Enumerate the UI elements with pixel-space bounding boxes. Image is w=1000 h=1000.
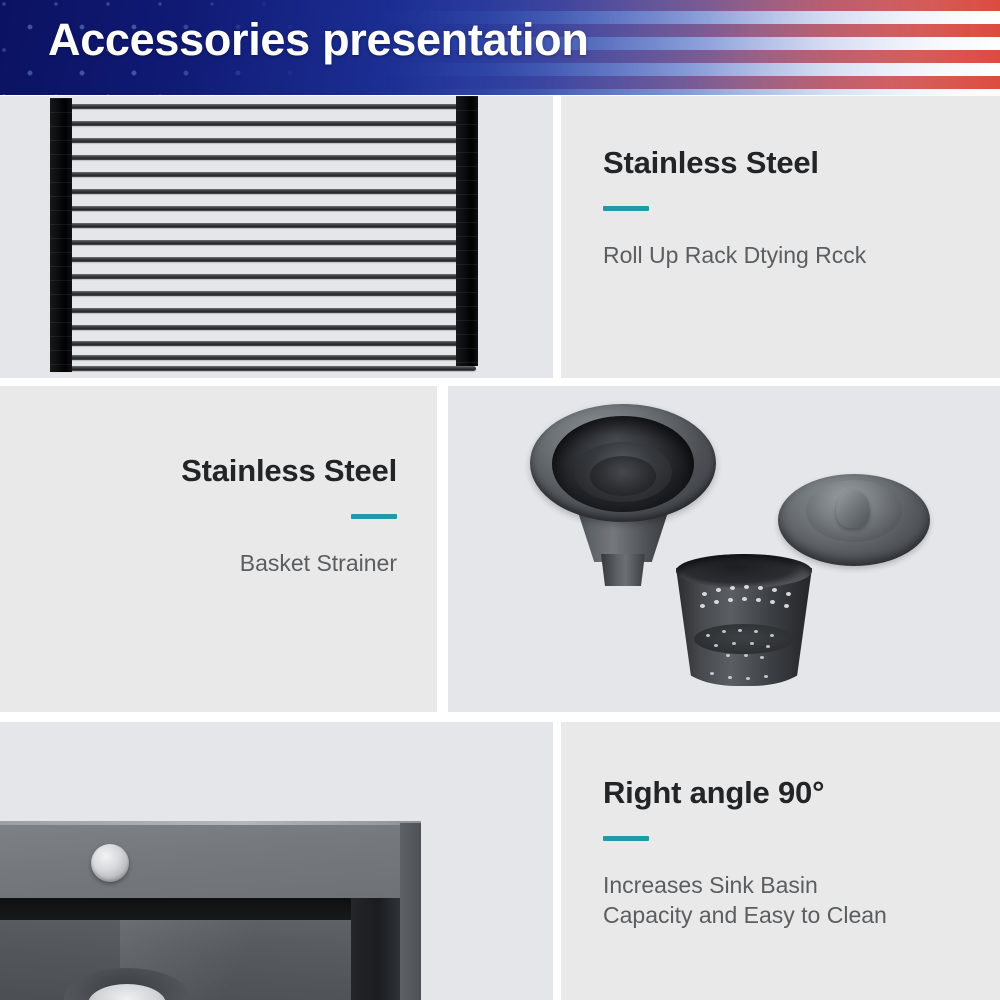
page-title: Accessories presentation [48, 14, 589, 66]
faucet-hole-plug [91, 844, 129, 882]
rack-text-block: Stainless Steel Roll Up Rack Dtying Rcck [603, 146, 866, 271]
perforated-basket [676, 554, 812, 696]
angle-text-block: Right angle 90° Increases Sink Basin Cap… [603, 776, 887, 930]
panel-right-angle-text: Right angle 90° Increases Sink Basin Cap… [561, 722, 1000, 1000]
panel-roll-up-rack-text: Stainless Steel Roll Up Rack Dtying Rcck [561, 96, 1000, 378]
roll-up-dish-drying-rack-photo [0, 96, 553, 378]
basket-subtitle: Basket Strainer [181, 549, 397, 578]
panel-sink-photo [0, 722, 553, 1000]
rack-accent-rule [603, 206, 649, 211]
flag-stripe-white [380, 89, 1000, 95]
basket-heading: Stainless Steel [181, 454, 397, 488]
rack-heading: Stainless Steel [603, 146, 866, 180]
angle-accent-rule [603, 836, 649, 841]
rack-silicone-band-left [50, 98, 72, 372]
basket-text-block: Stainless Steel Basket Strainer [181, 454, 397, 579]
header-banner: Accessories presentation [0, 0, 1000, 95]
accessories-presentation-page: Accessories presentation S [0, 0, 1000, 1000]
flag-stripe-red [380, 76, 1000, 89]
angle-subtitle-line1: Increases Sink Basin [603, 871, 887, 900]
angle-subtitle-line2: Capacity and Easy to Clean [603, 901, 887, 930]
basket-perforations [676, 554, 812, 696]
gunmetal-sink-corner-photo [0, 722, 553, 1000]
angle-heading: Right angle 90° [603, 776, 887, 810]
basket-accent-rule [351, 514, 397, 519]
rack-silicone-band-right [456, 96, 478, 366]
panel-roll-up-rack-photo [0, 96, 553, 378]
panel-basket-strainer-text: Stainless Steel Basket Strainer [0, 386, 437, 712]
flag-stripe-red [380, 0, 1000, 11]
angle-subtitle: Increases Sink Basin Capacity and Easy t… [603, 871, 887, 930]
panel-basket-strainer-photo [448, 386, 1000, 712]
basket-strainer-parts-photo [448, 386, 1000, 712]
rack-subtitle: Roll Up Rack Dtying Rcck [603, 241, 866, 270]
